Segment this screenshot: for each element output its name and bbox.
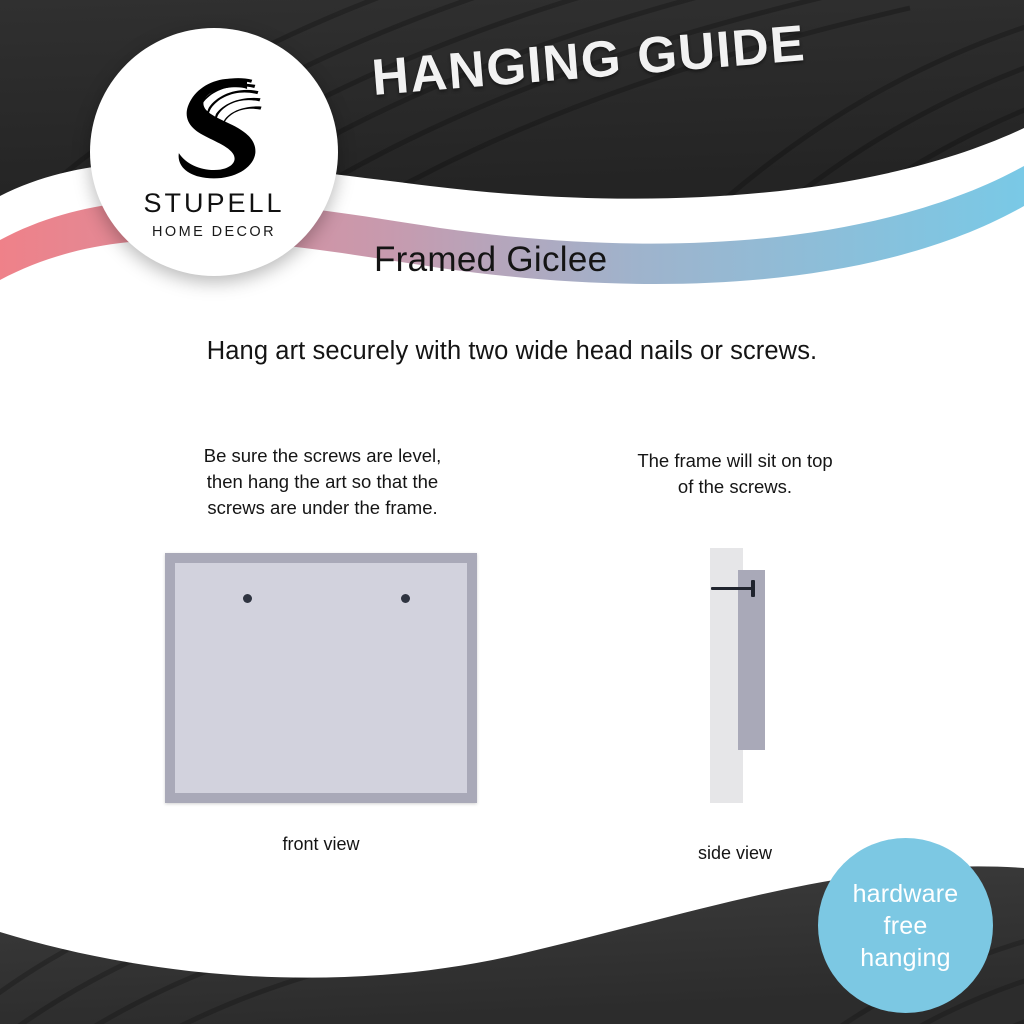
side-caption-line-2: of the screws. [575, 474, 895, 500]
side-view-frame-diagram [660, 540, 860, 815]
front-caption-line-1: Be sure the screws are level, [130, 443, 515, 469]
nail-head-icon [751, 580, 755, 597]
nail-side-profile-icon [711, 587, 754, 590]
front-view-caption: Be sure the screws are level, then hang … [130, 443, 515, 521]
badge-line-3: hanging [860, 942, 950, 974]
side-view-column: The frame will sit on top of the screws. [575, 448, 895, 500]
front-view-column: Be sure the screws are level, then hang … [130, 443, 515, 521]
page-title: HANGING GUIDE [370, 13, 808, 107]
brand-name: STUPELL [143, 190, 284, 217]
hanging-guide-page: STUPELL HOME DECOR HANGING GUIDE Framed … [0, 0, 1024, 1024]
frame-artwork-area [175, 563, 467, 793]
hardware-free-hanging-badge: hardware free hanging [818, 838, 993, 1013]
screw-dot-left [243, 594, 252, 603]
front-view-label: front view [165, 834, 477, 855]
front-caption-line-2: then hang the art so that the [130, 469, 515, 495]
stupell-swoosh-logo-icon [152, 58, 276, 182]
frame-profile-strip [738, 570, 765, 750]
front-caption-line-3: screws are under the frame. [130, 495, 515, 521]
screw-dot-right [401, 594, 410, 603]
side-view-label: side view [640, 843, 830, 864]
brand-tagline: HOME DECOR [152, 225, 276, 240]
product-type-label: Framed Giclee [374, 240, 607, 280]
side-view-caption: The frame will sit on top of the screws. [575, 448, 895, 500]
badge-line-2: free [884, 910, 928, 942]
brand-logo-badge: STUPELL HOME DECOR [90, 28, 338, 276]
side-caption-line-1: The frame will sit on top [575, 448, 895, 474]
main-instruction-text: Hang art securely with two wide head nai… [0, 337, 1024, 366]
front-view-frame-diagram [165, 553, 477, 803]
badge-line-1: hardware [853, 878, 959, 910]
